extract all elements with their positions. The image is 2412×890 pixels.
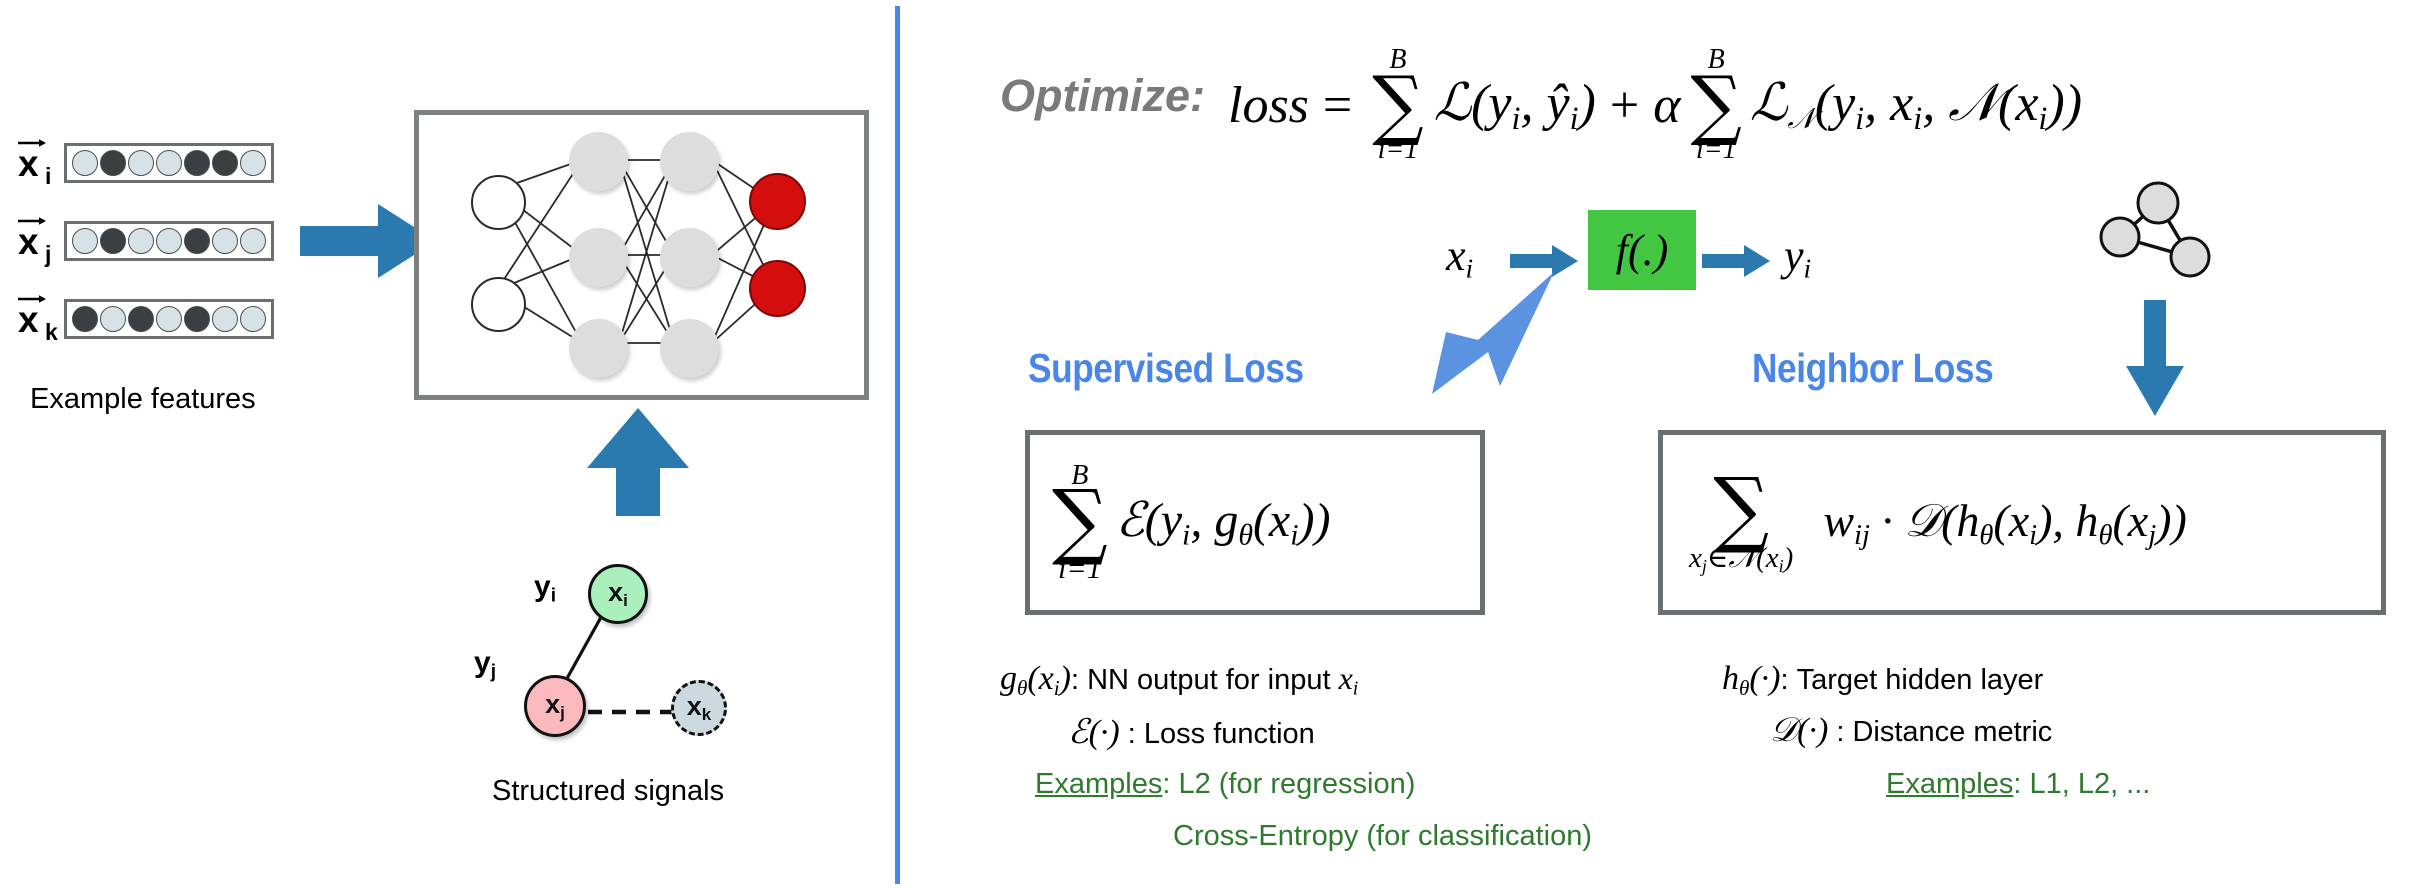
graph-node-xj: xj — [524, 675, 586, 737]
neighbor-loss-formula: ∑ xj∈𝒩(xi) wij · 𝒟(hθ(xi), hθ(xj)) — [1689, 470, 2187, 575]
formula-term-1: ℒ(yi, ŷi) — [1434, 73, 1596, 137]
supervised-loss-box: B ∑ i=1 ℰ(yi, gθ(xi)) — [1025, 430, 1485, 615]
function-box-label: f(.) — [1616, 225, 1669, 276]
formula-lhs: loss — [1228, 76, 1309, 135]
vector-label-base: x — [18, 145, 39, 182]
feature-bit — [72, 306, 98, 332]
formula-sum-1: B ∑ i=1 — [1372, 46, 1423, 164]
network-edges — [419, 115, 864, 395]
vector-label-sub: k — [45, 321, 58, 344]
feature-bit — [156, 306, 182, 332]
feature-vector-i — [64, 143, 274, 183]
legend-text: Loss function — [1144, 718, 1315, 750]
neighbor-legend-line-2: 𝒟(·) : Distance metric — [1770, 712, 2052, 750]
network-node-hidden — [569, 319, 628, 378]
feature-bit — [156, 228, 182, 254]
feature-row-k: x k — [12, 291, 274, 347]
example-features-caption: Example features — [30, 383, 256, 416]
graph-node-xi-label: xi — [608, 579, 628, 609]
pipeline-output-var: yi — [1784, 230, 1811, 285]
graph-node-xj-label: xj — [545, 691, 565, 721]
feature-bit — [128, 306, 154, 332]
graph-node-xk: xk — [671, 680, 727, 736]
formula-equals: = — [1323, 76, 1352, 135]
examples-label: Examples — [1886, 768, 2013, 800]
supervised-examples-line-2: Cross-Entropy (for classification) — [1173, 820, 1592, 853]
network-node-output — [749, 173, 806, 230]
legend-text: Target hidden layer — [1797, 664, 2044, 696]
feature-bit — [240, 228, 266, 254]
legend-separator: : — [1828, 716, 1852, 748]
supervised-legend-line-2: ℰ(·) : Loss function — [1068, 712, 1315, 752]
neighbor-loss-box: ∑ xj∈𝒩(xi) wij · 𝒟(hθ(xi), hθ(xj)) — [1658, 430, 2386, 615]
legend-math-symbol: 𝒟(·) — [1770, 712, 1828, 749]
panel-divider — [895, 6, 900, 884]
legend-separator: : — [1071, 664, 1087, 696]
vector-label-sub: i — [45, 165, 51, 188]
examples-value: : L1, L2, ... — [2013, 768, 2150, 800]
slide-root: x i x j — [0, 0, 2412, 890]
legend-math-symbol: ℰ(·) — [1068, 714, 1120, 751]
supervised-loss-formula: B ∑ i=1 ℰ(yi, gθ(xi)) — [1052, 462, 1330, 584]
formula-term-2: ℒ𝒩(yi, xi, 𝒩(xi)) — [1750, 73, 2082, 137]
neighbor-loss-title: Neighbor Loss — [1752, 345, 1993, 392]
graph-node-xk-label: xk — [687, 693, 712, 723]
neighbor-loss-body: wij · 𝒟(hθ(xi), hθ(xj)) — [1823, 494, 2186, 552]
arrow-down-icon — [2122, 300, 2188, 418]
vector-label-base: x — [18, 301, 39, 338]
feature-bit — [212, 150, 238, 176]
sum-symbol: ∑ — [1052, 479, 1108, 562]
feature-bit — [184, 228, 210, 254]
graph-triangle-icon — [2090, 175, 2220, 285]
feature-bit — [100, 306, 126, 332]
network-node-hidden — [569, 132, 628, 191]
feature-bit — [184, 306, 210, 332]
network-node-input — [471, 175, 526, 230]
vector-label-i: x i — [12, 135, 64, 191]
supervised-examples-line: Examples: L2 (for regression) — [1035, 768, 1415, 801]
feature-row-j: x j — [12, 213, 274, 269]
legend-math-symbol: gθ(xi) — [1000, 660, 1071, 697]
feature-row-i: x i — [12, 135, 274, 191]
vector-label-j: x j — [12, 213, 64, 269]
arrow-diagonal-down-left-icon — [1430, 268, 1560, 398]
feature-bit — [240, 150, 266, 176]
network-node-input — [471, 277, 526, 332]
feature-bit — [240, 306, 266, 332]
neighbor-examples-line: Examples: L1, L2, ... — [1886, 768, 2150, 801]
supervised-loss-body: ℰ(yi, gθ(xi)) — [1116, 492, 1331, 552]
graph-node-xj-outer-label: yj — [474, 646, 496, 683]
feature-bit — [72, 150, 98, 176]
neighbor-legend-line-1: hθ(·): Target hidden layer — [1722, 660, 2043, 701]
feature-vector-j — [64, 221, 274, 261]
examples-label: Examples — [1035, 768, 1162, 800]
formula-plus: + — [1610, 76, 1639, 135]
function-box: f(.) — [1588, 210, 1696, 290]
network-node-hidden — [660, 228, 719, 287]
formula-sum-2: B ∑ i=1 — [1691, 46, 1742, 164]
legend-separator: : — [1781, 664, 1797, 696]
feature-bit — [72, 228, 98, 254]
supervised-loss-title: Supervised Loss — [1028, 345, 1304, 392]
feature-bit — [184, 150, 210, 176]
optimize-label: Optimize: — [1000, 70, 1205, 122]
feature-bit — [100, 228, 126, 254]
feature-bit — [128, 150, 154, 176]
vector-label-base: x — [18, 223, 39, 260]
examples-value: : L2 (for regression) — [1162, 768, 1415, 800]
network-node-hidden — [660, 319, 719, 378]
legend-trailing-math: xi — [1339, 660, 1359, 696]
legend-text: Distance metric — [1852, 716, 2052, 748]
feature-bit — [156, 150, 182, 176]
network-node-hidden — [569, 228, 628, 287]
graph-node-xi: xi — [588, 564, 648, 624]
formula-sum: B ∑ i=1 — [1052, 462, 1108, 584]
feature-vector-k — [64, 299, 274, 339]
main-loss-formula: loss = B ∑ i=1 ℒ(yi, ŷi) + α B ∑ i=1 ℒ𝒩(… — [1228, 46, 2082, 164]
legend-separator: : — [1120, 718, 1144, 750]
sum-symbol: ∑ — [1691, 66, 1742, 142]
network-node-hidden — [660, 132, 719, 191]
vector-label-sub: j — [45, 243, 51, 266]
structured-signals-caption: Structured signals — [492, 775, 724, 808]
formula-alpha: α — [1653, 76, 1680, 135]
arrow-right-icon — [1702, 243, 1772, 279]
sum-symbol: ∑ — [1713, 468, 1769, 551]
graph-node-xi-outer-label: yi — [534, 570, 556, 607]
feature-bit — [100, 150, 126, 176]
formula-sum: ∑ xj∈𝒩(xi) — [1689, 470, 1793, 575]
neural-network-box — [414, 110, 869, 400]
feature-bit — [212, 306, 238, 332]
arrow-up-icon — [583, 406, 693, 518]
network-node-output — [749, 260, 806, 317]
feature-bit — [128, 228, 154, 254]
supervised-legend-line-1: gθ(xi): NN output for input xi — [1000, 660, 1358, 701]
sum-symbol: ∑ — [1372, 66, 1423, 142]
vector-label-k: x k — [12, 291, 64, 347]
legend-math-symbol: hθ(·) — [1722, 660, 1781, 697]
legend-text: NN output for input — [1087, 664, 1338, 696]
feature-bit — [212, 228, 238, 254]
